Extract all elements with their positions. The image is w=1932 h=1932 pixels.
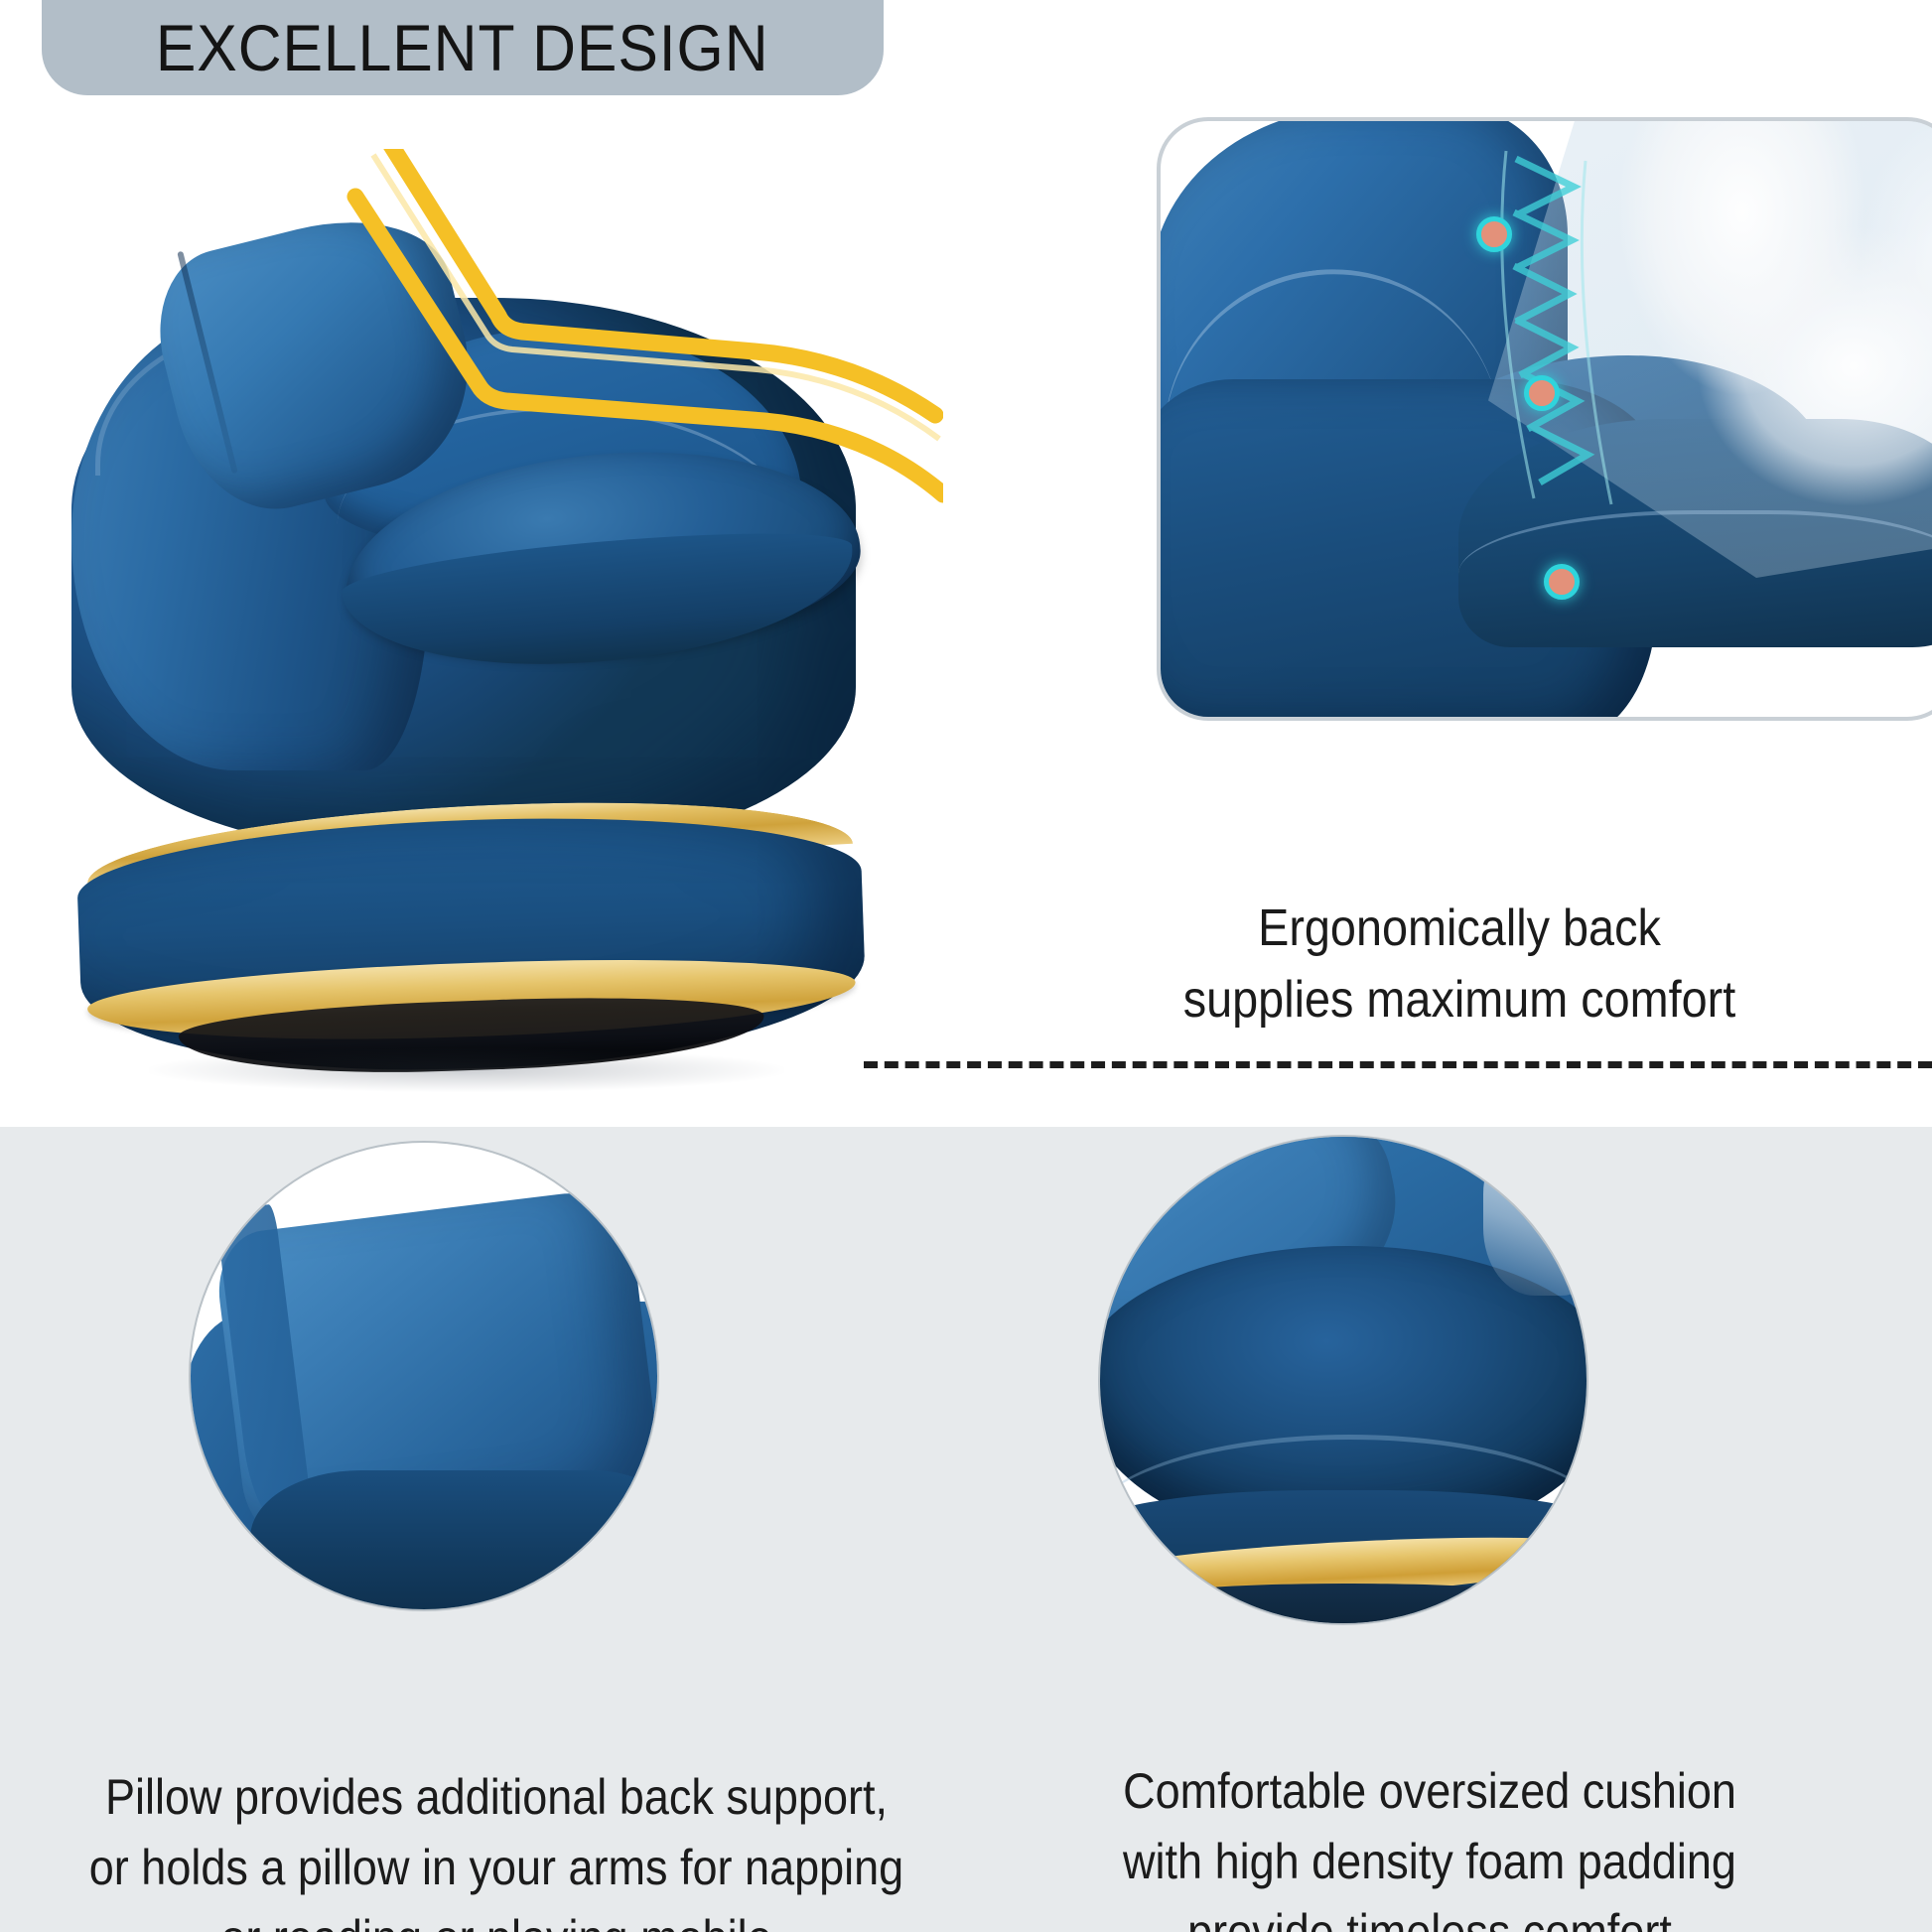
main-chair-photo [30,109,943,1102]
caption-line: supplies maximum comfort [1057,965,1862,1036]
caption-line: with high density foam padding [1019,1827,1841,1897]
pressure-point-dot-lower [1544,564,1580,600]
header-badge: EXCELLENT DESIGN [42,0,884,95]
spine-chevron-icon [1488,141,1647,538]
pressure-point-dot-middle [1524,375,1560,411]
pillow-caption: Pillow provides additional back support,… [85,1762,907,1932]
pillow-photo-seat [250,1470,657,1609]
caption-line: Pillow provides additional back support, [85,1762,907,1833]
caption-line: Comfortable oversized cushion [1019,1756,1841,1827]
page-title: EXCELLENT DESIGN [156,10,769,85]
caption-line: Ergonomically back [1057,894,1862,965]
cushion-caption: Comfortable oversized cushion with high … [1019,1756,1841,1932]
bottom-section: Pillow provides additional back support,… [0,1127,1932,1932]
cushion-photo-shadow [1130,1584,1567,1623]
top-section: EXCELLENT DESIGN [0,0,1932,1127]
pressure-point-dot-upper [1476,216,1512,252]
caption-line: or holds a pillow in your arms for nappi… [85,1833,907,1903]
ergonomic-caption: Ergonomically back supplies maximum comf… [1057,894,1862,1036]
cushion-detail-photo [1100,1137,1587,1623]
pillow-detail-photo [191,1143,657,1609]
caption-line: provide timeless comfort [1019,1897,1841,1932]
mannequin-figure [1607,117,1932,528]
product-infographic: EXCELLENT DESIGN [0,0,1932,1932]
spine-graphic [1488,141,1647,538]
floor-shadow [149,1048,784,1092]
cushion-photo-highlight [1483,1137,1587,1296]
dashed-divider [864,1061,1932,1068]
caption-line: or reading or playing mobile [85,1903,907,1932]
ergonomic-detail-panel [1157,117,1932,721]
